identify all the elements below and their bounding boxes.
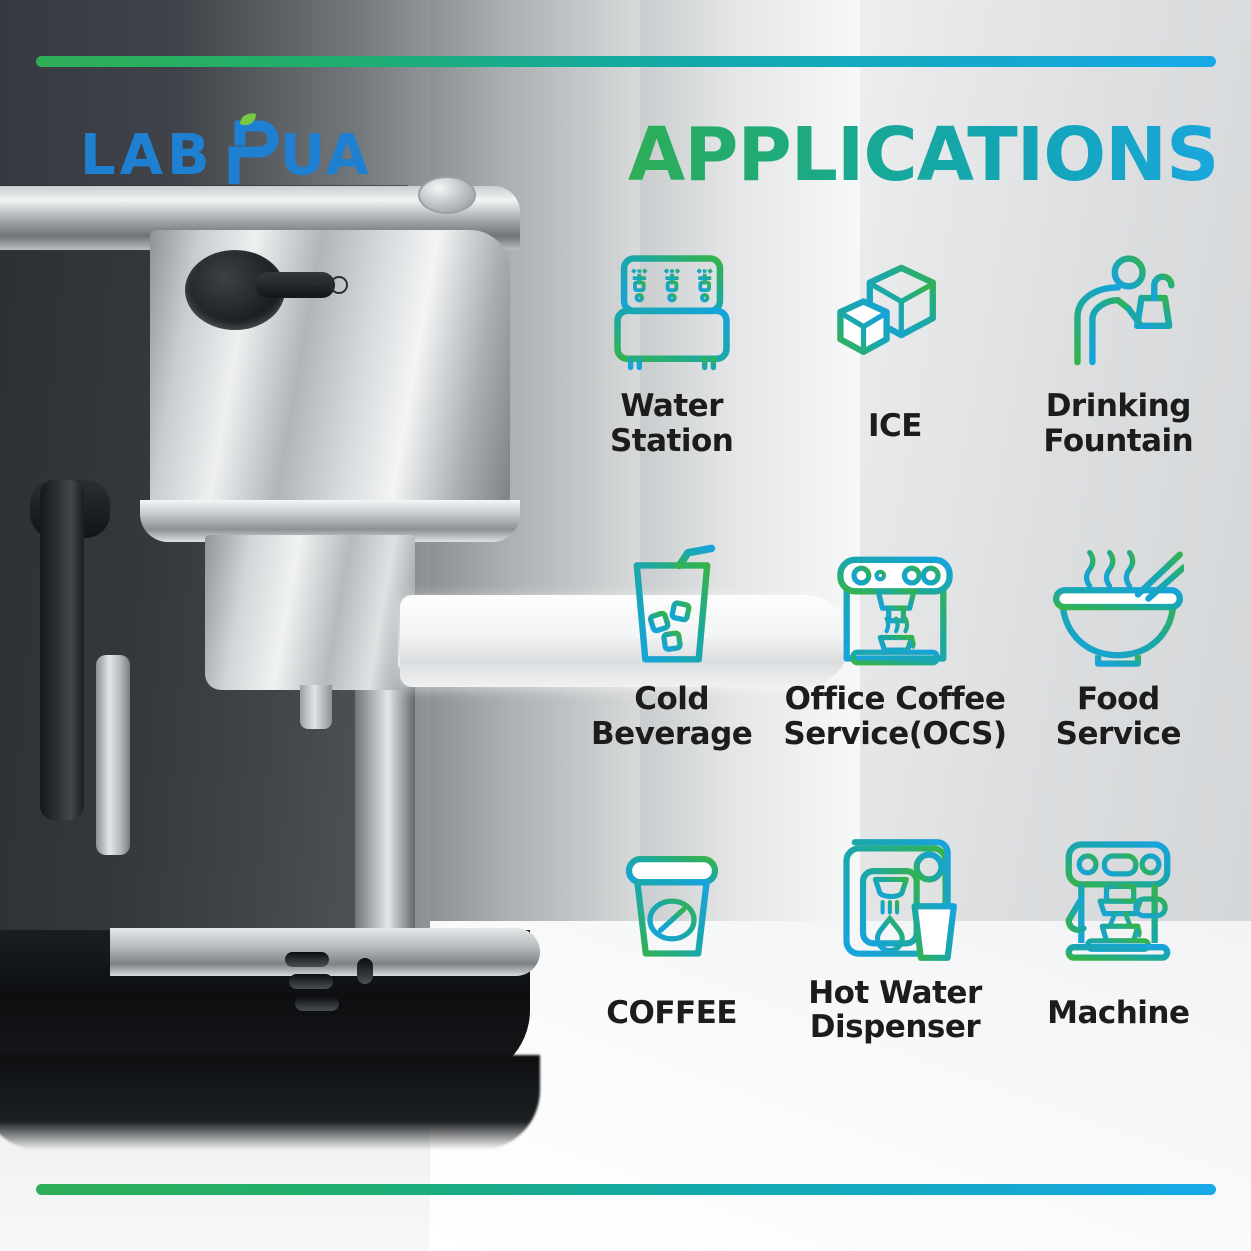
coffee-cup-icon: [614, 837, 730, 962]
application-label: Cold Beverage: [591, 682, 752, 751]
logo-text-ua: UA: [280, 128, 371, 184]
espresso-machine-spout: [300, 685, 332, 729]
application-item-hot-water-dispenser[interactable]: Hot Water Dispenser: [783, 837, 1006, 1130]
logo-text-lab: LAB: [80, 128, 214, 184]
application-label: Office Coffee Service(OCS): [783, 682, 1006, 751]
top-divider-bar: [36, 56, 1216, 67]
espresso-machine-indicator-led: [330, 276, 348, 294]
application-label: Water Station: [610, 389, 733, 458]
drinking-fountain-icon: [1054, 250, 1182, 375]
espresso-machine-base-shadow: [0, 1055, 540, 1150]
application-label-line1: Cold: [591, 682, 752, 717]
application-label-line2: Service: [1056, 717, 1181, 752]
application-label-line1: Water: [610, 389, 733, 424]
application-label-line1: Office Coffee: [783, 682, 1006, 717]
bottom-divider-bar: [36, 1184, 1216, 1195]
application-label-line1: Machine: [1047, 996, 1189, 1031]
applications-poster: LAB UA APPLICATIONS: [0, 0, 1251, 1251]
espresso-machine-indicator-dash: [312, 282, 324, 284]
cold-beverage-icon: [613, 543, 731, 668]
espresso-machine-portafilter: [205, 535, 415, 690]
food-service-bowl-icon: [1052, 543, 1184, 668]
espresso-machine-top-button: [418, 176, 476, 214]
application-label-line2: Dispenser: [808, 1010, 982, 1045]
coffee-machine-ocs-icon: [832, 543, 958, 668]
water-station-icon: [606, 250, 738, 375]
application-label: Food Service: [1056, 682, 1181, 751]
espresso-machine-steam-wand: [40, 480, 84, 820]
application-item-ice[interactable]: ICE: [783, 250, 1006, 543]
application-label-line2: Station: [610, 424, 733, 459]
application-label: ICE: [868, 409, 922, 444]
application-item-coffee[interactable]: COFFEE: [560, 837, 783, 1130]
application-item-machine[interactable]: Machine: [1007, 837, 1230, 1130]
application-item-drinking-fountain[interactable]: Drinking Fountain: [1007, 250, 1230, 543]
hot-water-dispenser-icon: [830, 837, 960, 962]
brand-logo[interactable]: LAB UA: [80, 110, 371, 184]
espresso-machine-lever: [255, 272, 335, 298]
application-label-line2: Fountain: [1043, 424, 1193, 459]
espresso-machine-icon: [1052, 837, 1184, 962]
application-label: Machine: [1047, 996, 1189, 1031]
espresso-machine-steam-wand-tip: [96, 655, 130, 855]
application-label: COFFEE: [606, 996, 737, 1031]
espresso-machine-tray-holes: [285, 952, 405, 1012]
application-item-food-service[interactable]: Food Service: [1007, 543, 1230, 836]
applications-grid: Water Station ICE: [560, 250, 1230, 1130]
application-label-line1: Drinking: [1043, 389, 1193, 424]
application-label: Drinking Fountain: [1043, 389, 1193, 458]
application-label-line1: Food: [1056, 682, 1181, 717]
application-item-water-station[interactable]: Water Station: [560, 250, 783, 543]
ice-cubes-icon: [832, 250, 958, 375]
application-item-cold-beverage[interactable]: Cold Beverage: [560, 543, 783, 836]
application-item-office-coffee-service[interactable]: Office Coffee Service(OCS): [783, 543, 1006, 836]
page-title: APPLICATIONS: [628, 118, 1218, 192]
application-label-line1: COFFEE: [606, 996, 737, 1031]
logo-p-mark: [220, 110, 280, 184]
application-label-line2: Beverage: [591, 717, 752, 752]
application-label-line1: ICE: [868, 409, 922, 444]
application-label-line1: Hot Water: [808, 976, 982, 1011]
application-label-line2: Service(OCS): [783, 717, 1006, 752]
application-label: Hot Water Dispenser: [808, 976, 982, 1045]
